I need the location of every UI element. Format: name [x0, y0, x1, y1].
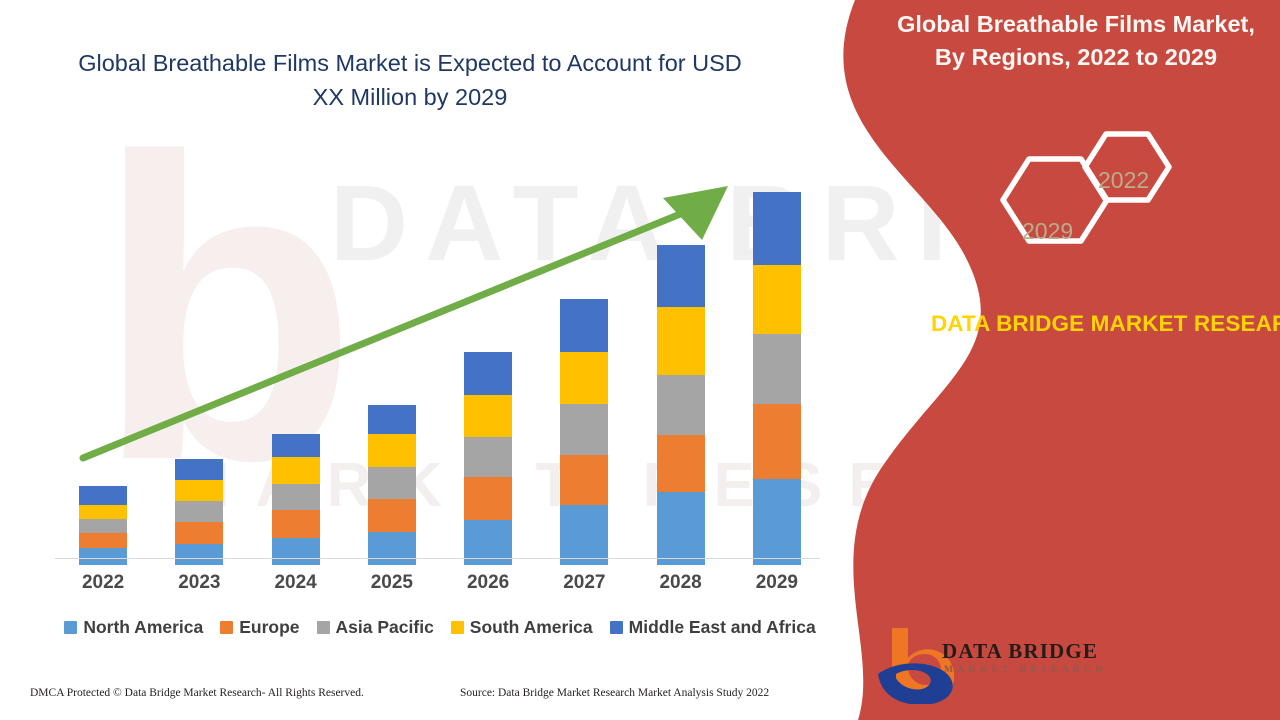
infographic-canvas: b DATA BRIDGE MARKET RESEARCH Global Bre…: [0, 0, 1280, 720]
logo-subtitle: MARKET RESEARCH: [944, 665, 1107, 675]
bar-2028[interactable]: [657, 245, 705, 565]
bar-segment: [753, 192, 801, 265]
bar-segment: [368, 434, 416, 467]
x-axis-label-2025: 2025: [347, 572, 437, 594]
bar-segment: [272, 484, 320, 510]
bar-segment: [175, 480, 223, 501]
legend-item[interactable]: Asia Pacific: [317, 617, 434, 638]
bar-segment: [464, 437, 512, 477]
brand-name: DATA BRIDGE MARKET RESEARCH: [900, 308, 1280, 340]
x-axis-label-2027: 2027: [539, 572, 629, 594]
bar-segment: [368, 405, 416, 434]
bar-2024[interactable]: [272, 434, 320, 565]
bar-2029[interactable]: [753, 192, 801, 565]
hexagon-2022-label: 2022: [1098, 167, 1149, 194]
bar-segment: [560, 352, 608, 404]
bar-2027[interactable]: [560, 299, 608, 565]
bar-segment: [272, 434, 320, 457]
bar-segment: [560, 404, 608, 455]
bar-segment: [464, 395, 512, 437]
legend-item[interactable]: North America: [64, 617, 203, 638]
bar-segment: [753, 334, 801, 404]
bar-segment: [175, 522, 223, 544]
bar-segment: [560, 299, 608, 352]
bar-segment: [560, 455, 608, 505]
legend-item[interactable]: Middle East and Africa: [610, 617, 816, 638]
footer-source: Source: Data Bridge Market Research Mark…: [460, 687, 769, 699]
bar-segment: [753, 404, 801, 479]
x-axis-label-2023: 2023: [154, 572, 244, 594]
hexagon-2029-label: 2029: [1022, 218, 1073, 245]
legend-label: North America: [83, 617, 203, 638]
x-axis-label-2024: 2024: [251, 572, 341, 594]
x-axis-line: [55, 558, 820, 559]
page-title: Global Breathable Films Market is Expect…: [60, 46, 760, 114]
bar-segment: [560, 505, 608, 565]
bar-segment: [79, 505, 127, 519]
bar-segment: [175, 544, 223, 565]
panel-title: Global Breathable Films Market, By Regio…: [880, 8, 1272, 74]
bar-segment: [657, 435, 705, 492]
legend-item[interactable]: South America: [451, 617, 593, 638]
bar-segment: [753, 479, 801, 565]
chart-legend: North AmericaEuropeAsia PacificSouth Ame…: [55, 617, 825, 638]
bar-segment: [464, 352, 512, 395]
bar-segment: [79, 486, 127, 505]
bar-segment: [272, 457, 320, 484]
logo-title: DATA BRIDGE: [942, 639, 1098, 664]
bar-segment: [464, 477, 512, 520]
x-axis-labels: 20222023202420252026202720282029: [55, 572, 820, 602]
bar-segment: [79, 533, 127, 548]
legend-label: Middle East and Africa: [629, 617, 816, 638]
bar-segment: [657, 245, 705, 307]
bar-segment: [657, 307, 705, 375]
bar-2025[interactable]: [368, 405, 416, 565]
legend-swatch-icon: [317, 621, 330, 634]
bar-2022[interactable]: [79, 486, 127, 565]
legend-swatch-icon: [64, 621, 77, 634]
x-axis-label-2028: 2028: [636, 572, 726, 594]
legend-item[interactable]: Europe: [220, 617, 299, 638]
bar-2023[interactable]: [175, 459, 223, 565]
legend-swatch-icon: [451, 621, 464, 634]
hexagon-group: [985, 125, 1185, 285]
legend-label: Asia Pacific: [336, 617, 434, 638]
bar-2026[interactable]: [464, 352, 512, 565]
bar-segment: [272, 510, 320, 538]
bar-segment: [175, 501, 223, 522]
legend-swatch-icon: [610, 621, 623, 634]
bar-segment: [79, 519, 127, 533]
bar-segment: [368, 532, 416, 565]
bar-segment: [368, 499, 416, 532]
legend-label: Europe: [239, 617, 299, 638]
bar-segment: [753, 265, 801, 334]
x-axis-label-2026: 2026: [443, 572, 533, 594]
bar-segment: [657, 492, 705, 565]
legend-swatch-icon: [220, 621, 233, 634]
bar-segment: [79, 548, 127, 565]
stacked-bar-chart: [55, 175, 825, 565]
x-axis-label-2029: 2029: [732, 572, 822, 594]
bar-segment: [368, 467, 416, 499]
x-axis-label-2022: 2022: [58, 572, 148, 594]
bar-segment: [175, 459, 223, 480]
footer-copyright: DMCA Protected © Data Bridge Market Rese…: [30, 687, 364, 699]
bar-segment: [272, 538, 320, 565]
bar-segment: [657, 375, 705, 435]
legend-label: South America: [470, 617, 593, 638]
